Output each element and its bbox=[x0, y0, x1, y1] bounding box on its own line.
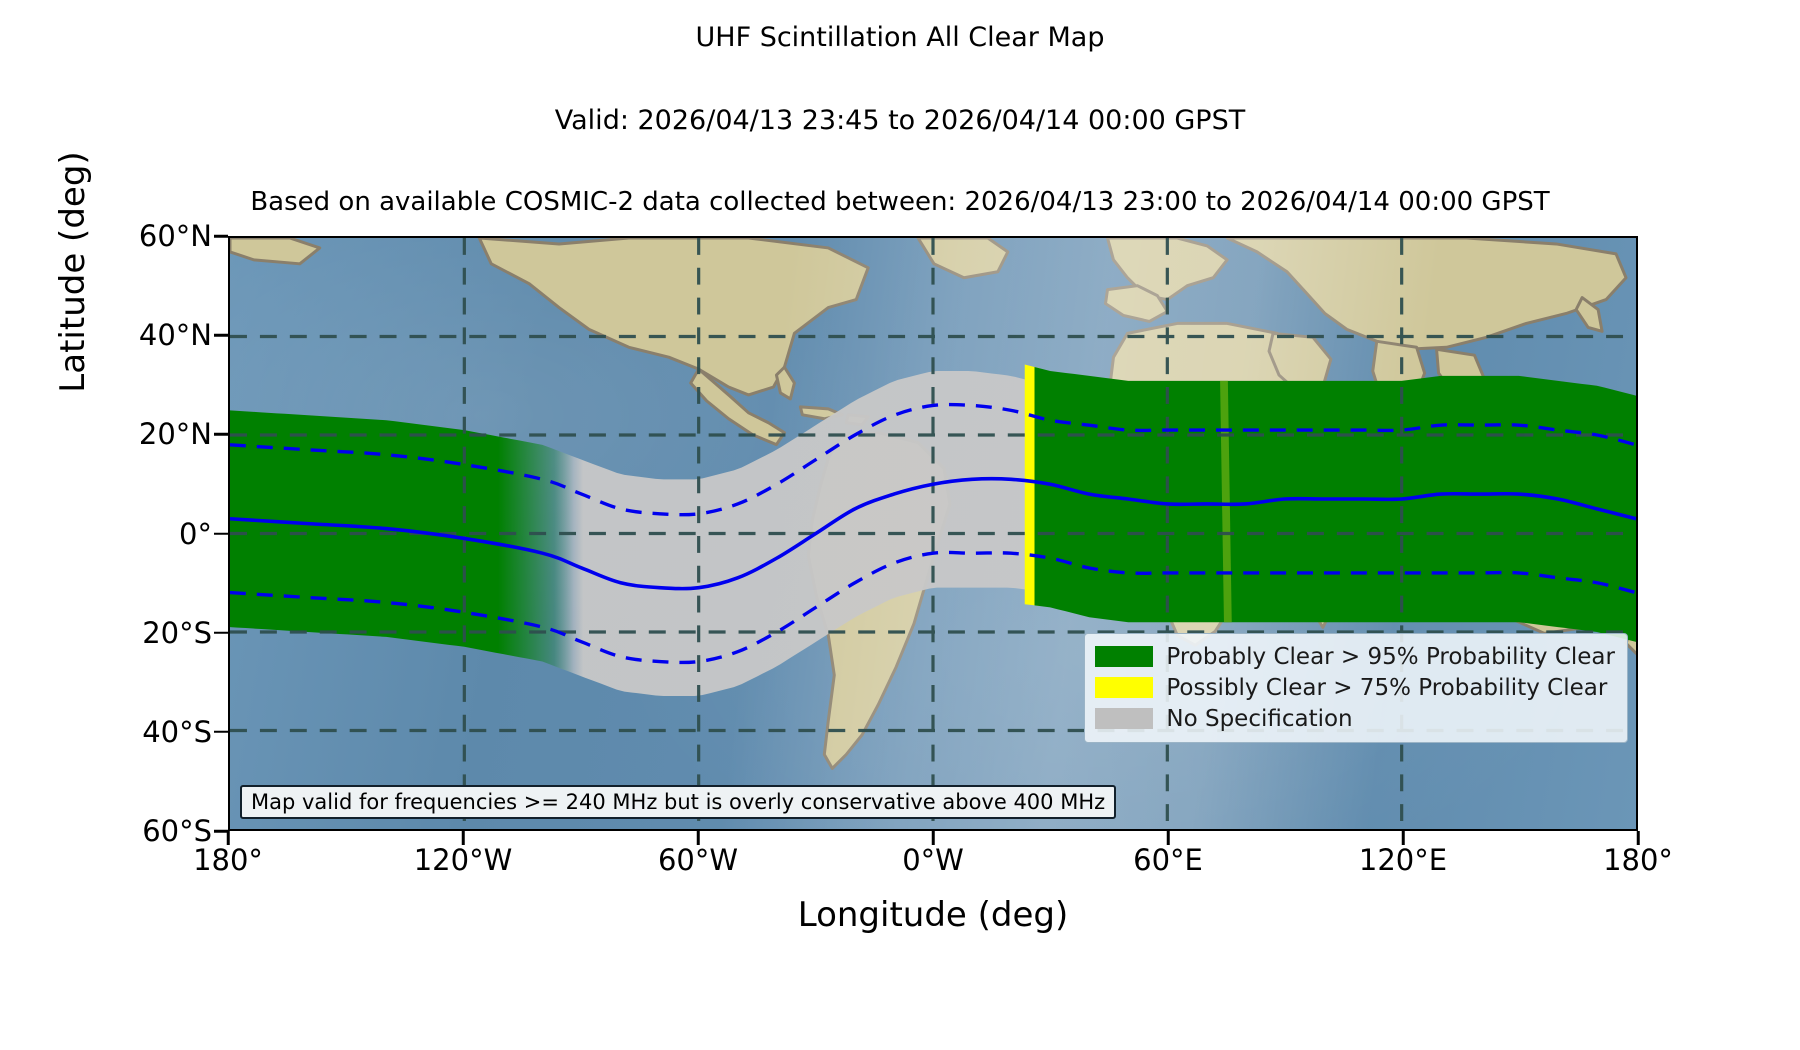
y-tick-label: 20°N bbox=[32, 417, 212, 451]
legend-item-probably-clear: Probably Clear > 95% Probability Clear bbox=[1095, 641, 1615, 672]
x-tick-mark bbox=[1402, 831, 1405, 845]
scintillation-map-figure: UHF Scintillation All Clear Map Valid: 2… bbox=[0, 0, 1800, 1050]
map-plot-area: Probably Clear > 95% Probability Clear P… bbox=[228, 236, 1638, 831]
legend-swatch-yellow bbox=[1095, 677, 1153, 698]
x-tick-mark bbox=[227, 831, 230, 845]
legend-item-no-specification: No Specification bbox=[1095, 703, 1615, 734]
y-tick-label: 20°S bbox=[32, 616, 212, 650]
legend-label-probably-clear: Probably Clear > 95% Probability Clear bbox=[1166, 644, 1615, 670]
y-tick-mark bbox=[214, 433, 228, 436]
y-tick-label: 40°S bbox=[32, 715, 212, 749]
x-tick-label: 120°W bbox=[363, 843, 563, 877]
y-tick-mark bbox=[214, 631, 228, 634]
x-tick-mark bbox=[1637, 831, 1640, 845]
x-axis-label: Longitude (deg) bbox=[228, 895, 1638, 935]
legend-label-possibly-clear: Possibly Clear > 75% Probability Clear bbox=[1166, 675, 1607, 701]
y-tick-label: 0° bbox=[32, 517, 212, 551]
validity-subtitle: Valid: 2026/04/13 23:45 to 2026/04/14 00… bbox=[0, 105, 1800, 136]
y-tick-mark bbox=[214, 532, 228, 535]
y-tick-mark bbox=[214, 334, 228, 337]
x-tick-mark bbox=[932, 831, 935, 845]
y-tick-label: 40°N bbox=[32, 318, 212, 352]
x-tick-mark bbox=[462, 831, 465, 845]
y-tick-label: 60°N bbox=[32, 219, 212, 253]
frequency-validity-note: Map valid for frequencies >= 240 MHz but… bbox=[240, 785, 1116, 819]
x-tick-mark bbox=[697, 831, 700, 845]
x-tick-label: 180° bbox=[128, 843, 328, 877]
y-tick-mark bbox=[214, 235, 228, 238]
legend-item-possibly-clear: Possibly Clear > 75% Probability Clear bbox=[1095, 672, 1615, 703]
y-tick-mark bbox=[214, 731, 228, 734]
x-tick-label: 60°W bbox=[598, 843, 798, 877]
x-tick-label: 180° bbox=[1538, 843, 1738, 877]
legend-swatch-green bbox=[1095, 646, 1153, 667]
data-source-subtitle: Based on available COSMIC-2 data collect… bbox=[0, 187, 1800, 217]
x-tick-mark bbox=[1167, 831, 1170, 845]
x-tick-label: 0°W bbox=[833, 843, 1033, 877]
figure-title: UHF Scintillation All Clear Map bbox=[0, 22, 1800, 53]
x-tick-label: 60°E bbox=[1068, 843, 1268, 877]
legend-swatch-gray bbox=[1095, 708, 1153, 729]
map-legend: Probably Clear > 95% Probability Clear P… bbox=[1084, 633, 1628, 743]
x-tick-label: 120°E bbox=[1303, 843, 1503, 877]
legend-label-no-specification: No Specification bbox=[1166, 706, 1352, 732]
